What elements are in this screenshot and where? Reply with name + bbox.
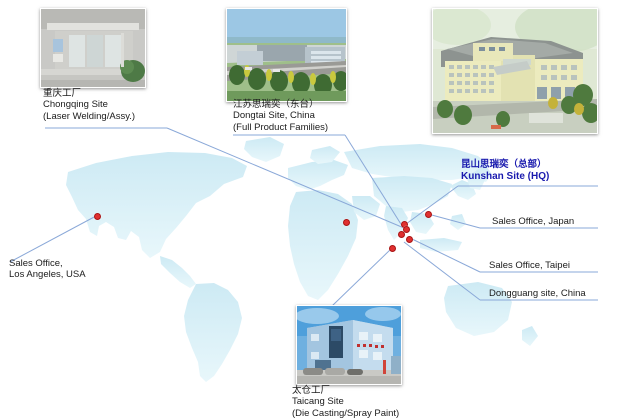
label-dongtai-note: (Full Product Families) — [233, 122, 328, 133]
leader-dongtai — [345, 135, 404, 229]
marker-japan[interactable] — [425, 211, 432, 218]
label-los-angeles-line1: Sales Office, — [9, 258, 86, 269]
photo-chongqing[interactable] — [40, 8, 146, 88]
label-dongguang-text: Dongguang site, China — [489, 288, 586, 299]
label-kunshan-cn: 昆山思瑞奕（总部） — [461, 159, 549, 171]
label-taipei: Sales Office, Taipei — [489, 260, 570, 271]
marker-los-angeles[interactable] — [94, 213, 101, 220]
photo-dongtai[interactable] — [226, 8, 347, 102]
leader-los-angeles — [10, 216, 96, 262]
label-chongqing: 重庆工厂 Chongqing Site (Laser Welding/Assy.… — [43, 88, 135, 122]
label-kunshan: 昆山思瑞奕（总部） Kunshan Site (HQ) — [461, 159, 549, 183]
leader-chongqing — [167, 128, 404, 228]
label-los-angeles-line2: Los Angeles, USA — [9, 269, 86, 280]
label-taipei-text: Sales Office, Taipei — [489, 260, 570, 271]
leader-taicang — [332, 248, 392, 306]
slide-canvas: 重庆工厂 Chongqing Site (Laser Welding/Assy.… — [0, 0, 622, 418]
label-chongqing-note: (Laser Welding/Assy.) — [43, 111, 135, 122]
label-japan-text: Sales Office, Japan — [492, 216, 574, 227]
label-taicang-en: Taicang Site — [292, 396, 399, 407]
label-japan: Sales Office, Japan — [492, 216, 574, 227]
marker-chongqing[interactable] — [398, 231, 405, 238]
photo-kunshan[interactable] — [432, 8, 598, 134]
label-dongtai-en: Dongtai Site, China — [233, 110, 328, 121]
label-chongqing-en: Chongqing Site — [43, 99, 135, 110]
leader-kunshan — [406, 186, 458, 224]
label-dongtai-cn: 江苏思瑞奕（东台） — [233, 99, 328, 110]
label-dongtai: 江苏思瑞奕（东台） Dongtai Site, China (Full Prod… — [233, 99, 328, 133]
leader-japan — [428, 214, 480, 228]
marker-dongguang[interactable] — [343, 219, 350, 226]
label-dongguang: Dongguang site, China — [489, 288, 586, 299]
marker-taipei[interactable] — [406, 236, 413, 243]
label-taicang-cn: 太仓工厂 — [292, 385, 399, 396]
leader-dongguang — [404, 242, 480, 300]
label-kunshan-en: Kunshan Site (HQ) — [461, 171, 549, 183]
marker-taicang[interactable] — [389, 245, 396, 252]
label-los-angeles: Sales Office, Los Angeles, USA — [9, 258, 86, 281]
label-chongqing-cn: 重庆工厂 — [43, 88, 135, 99]
photo-taicang[interactable] — [296, 305, 402, 385]
label-taicang: 太仓工厂 Taicang Site (Die Casting/Spray Pai… — [292, 385, 399, 419]
label-taicang-note: (Die Casting/Spray Paint) — [292, 408, 399, 419]
